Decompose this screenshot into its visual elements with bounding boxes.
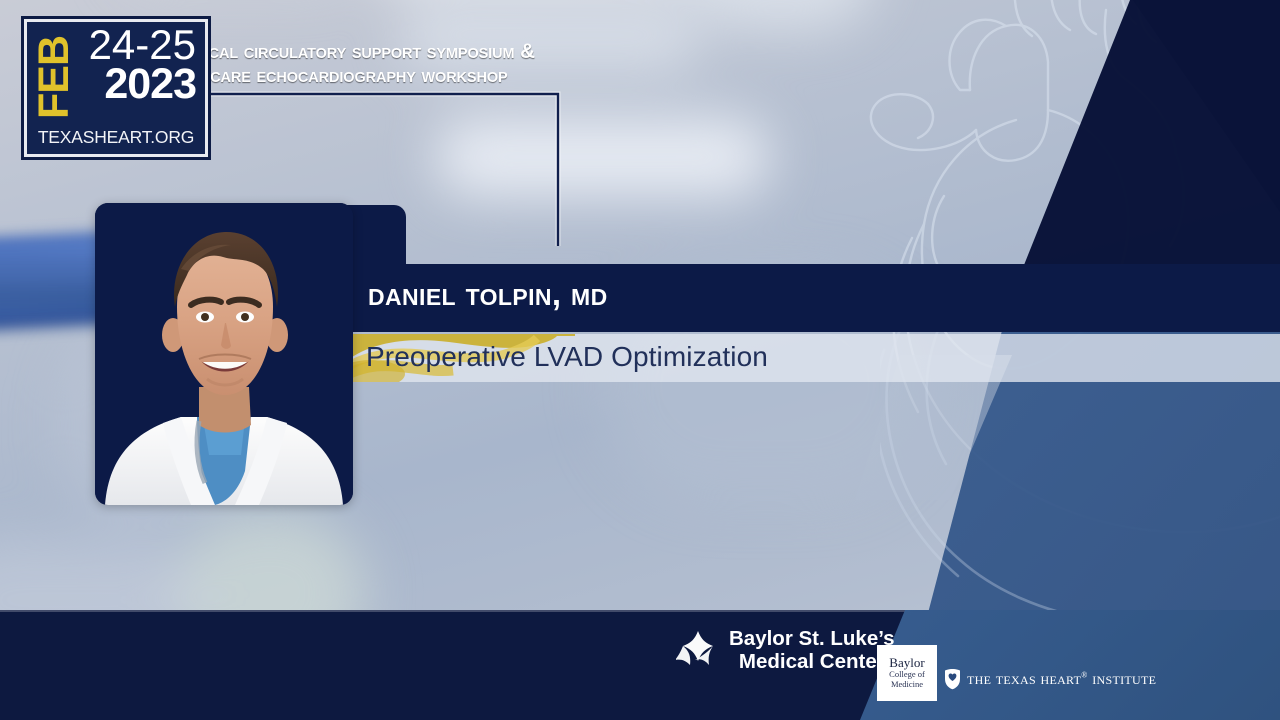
logo-bsl-line-1: Baylor St. Luke’s bbox=[729, 627, 895, 650]
badge-year: 2023 bbox=[104, 65, 196, 104]
badge-url[interactable]: TEXASHEART.ORG bbox=[27, 127, 205, 148]
logo-bsl-line-2: Medical Center bbox=[729, 651, 895, 674]
shield-heart-icon bbox=[944, 668, 961, 690]
logo-thi-text-suffix: Institute bbox=[1088, 669, 1157, 688]
logo-bcm-line-3: Medicine bbox=[891, 680, 923, 690]
logo-thi-text-main: The Texas Heart bbox=[967, 669, 1081, 688]
badge-month: FEB bbox=[35, 28, 75, 128]
speaker-name: Daniel Tolpin, MD bbox=[368, 275, 608, 313]
talk-title: Preoperative LVAD Optimization bbox=[366, 341, 768, 373]
logo-texas-heart-institute: The Texas Heart® Institute bbox=[944, 668, 1156, 690]
logo-baylor-college-of-medicine: Baylor College of Medicine bbox=[877, 645, 937, 701]
date-badge: FEB 24-25 2023 TEXASHEART.ORG bbox=[24, 19, 208, 157]
logo-baylor-st-lukes: Baylor St. Luke’s Medical Center bbox=[676, 628, 895, 674]
logo-baylor-st-lukes-text: Baylor St. Luke’s Medical Center bbox=[729, 628, 895, 674]
logo-bcm-line-1: Baylor bbox=[889, 656, 924, 670]
badge-days: 24-25 bbox=[89, 27, 196, 64]
pinwheel-cross-icon bbox=[676, 629, 720, 673]
logo-thi-text: The Texas Heart® Institute bbox=[967, 669, 1156, 689]
speaker-photo bbox=[95, 203, 353, 505]
slide-canvas: Daniel Tolpin, MD Preoperative LVAD Opti… bbox=[0, 0, 1280, 720]
